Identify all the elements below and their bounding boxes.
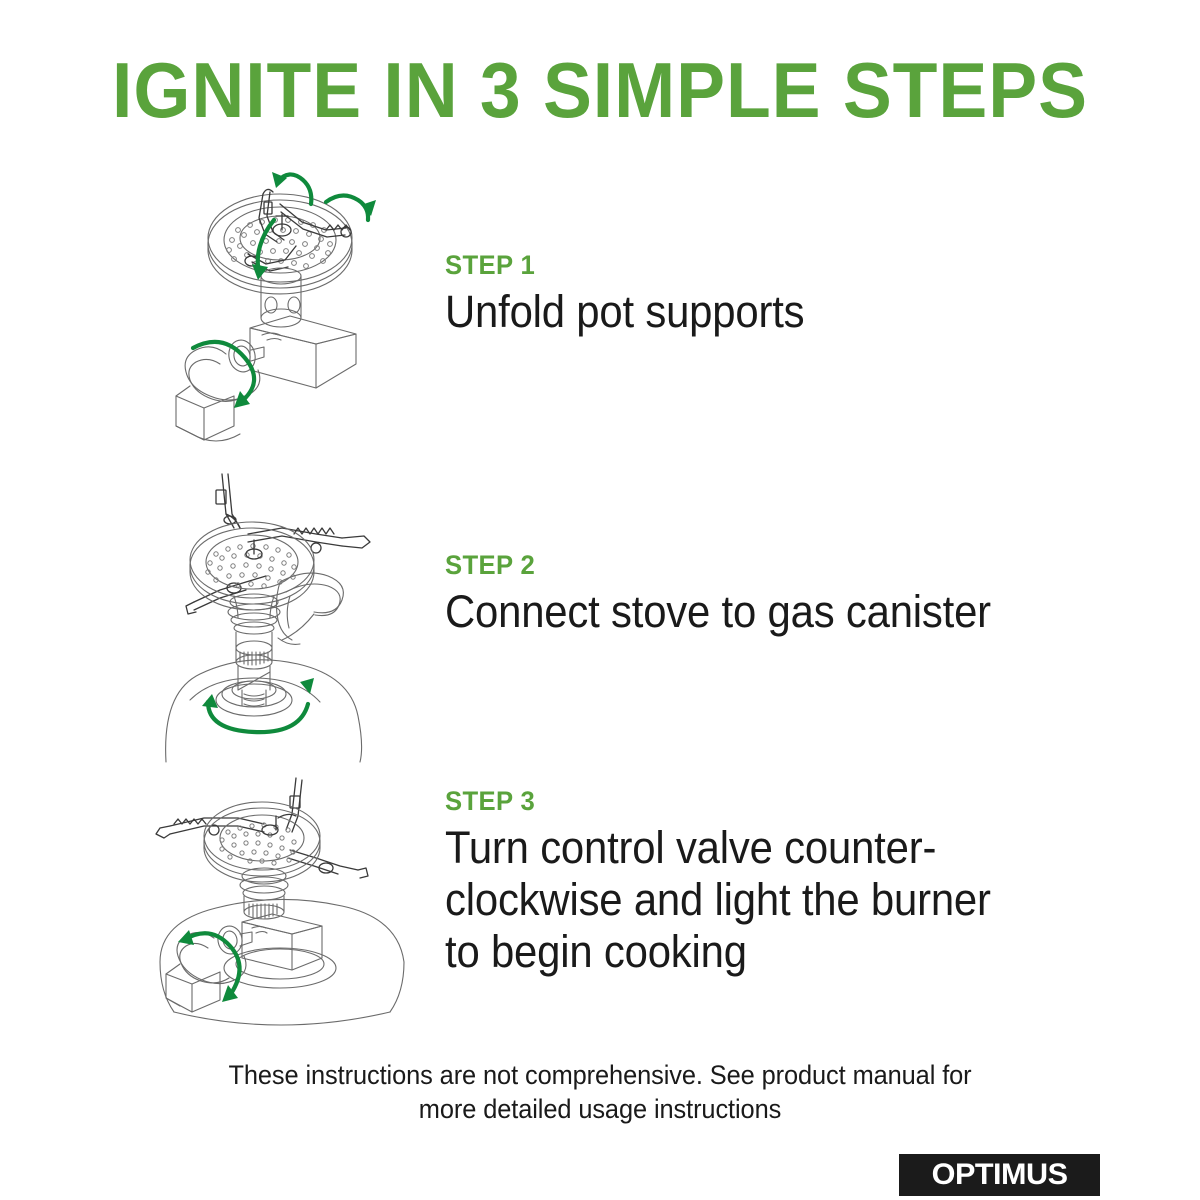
unfold-arrow-top <box>272 172 311 204</box>
page-title: IGNITE IN 3 SIMPLE STEPS <box>36 48 1164 132</box>
step-2-text: STEP 2 Connect stove to gas canister <box>430 462 1032 638</box>
step-row-2: STEP 2 Connect stove to gas canister <box>0 462 1200 762</box>
step-3-label: STEP 3 <box>445 786 1002 816</box>
burner-head-group <box>204 802 320 882</box>
pot-support-arms-open <box>186 474 370 614</box>
step-1-body: Unfold pot supports <box>445 286 804 338</box>
step-2-illustration <box>130 462 430 762</box>
step-1-label: STEP 1 <box>445 250 812 280</box>
step-2-label: STEP 2 <box>445 550 1003 580</box>
foldable-wire-handle <box>276 573 343 644</box>
burner-head-group <box>190 522 314 610</box>
instruction-card: IGNITE IN 3 SIMPLE STEPS <box>0 0 1200 1200</box>
step-3-illustration <box>130 772 430 1012</box>
counter-clockwise-arrow <box>178 930 240 1002</box>
optimus-logo: OPTIMUS <box>899 1154 1100 1196</box>
step-row-1: STEP 1 Unfold pot supports <box>0 158 1200 448</box>
burner-head-group <box>208 189 352 294</box>
step-1-illustration <box>130 158 430 448</box>
disclaimer-text: These instructions are not comprehensive… <box>158 1058 1042 1126</box>
step-2-body: Connect stove to gas canister <box>445 586 991 638</box>
optimus-logo-text: OPTIMUS <box>932 1158 1068 1192</box>
step-row-3: STEP 3 Turn control valve counter- clock… <box>0 772 1200 1012</box>
step-1-text: STEP 1 Unfold pot supports <box>430 158 831 338</box>
unfold-arrow-right <box>326 195 376 220</box>
step-3-body: Turn control valve counter- clockwise an… <box>445 822 991 978</box>
gas-canister <box>166 660 362 762</box>
valve-body-and-canister-top <box>160 899 404 1025</box>
step-3-text: STEP 3 Turn control valve counter- clock… <box>430 772 1032 978</box>
